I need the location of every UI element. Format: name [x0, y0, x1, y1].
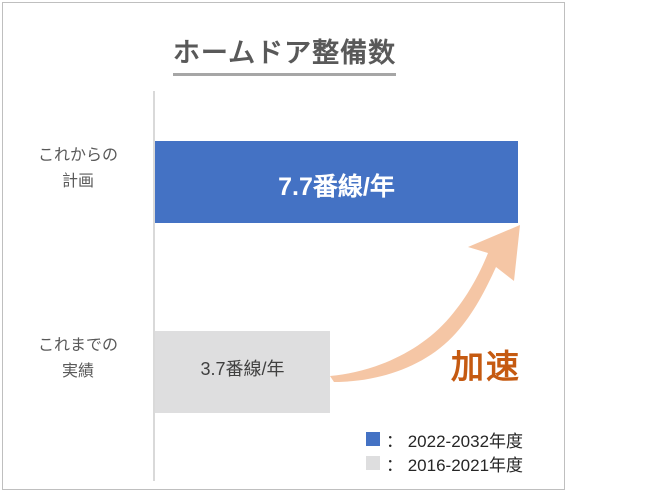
page-title: ホームドア整備数 — [3, 31, 566, 76]
bar-plan-value-label: 7.7番線/年 — [155, 167, 518, 203]
category-label-actual-line2: 実績 — [8, 359, 148, 385]
legend-item-plan[interactable]: ： 2022-2032年度 — [366, 427, 566, 451]
legend-label-plan: ： 2022-2032年度 — [386, 427, 523, 452]
legend-swatch-blue-icon — [366, 432, 380, 446]
chart-title-text: ホームドア整備数 — [173, 31, 396, 76]
legend-swatch-gray-icon — [366, 456, 380, 470]
legend-item-actual[interactable]: ： 2016-2021年度 — [366, 451, 566, 475]
chart-legend: ： 2022-2032年度 ： 2016-2021年度 — [366, 427, 566, 475]
bar-actual-value-label: 3.7番線/年 — [155, 355, 330, 381]
accelerate-annotation: 加速 — [451, 340, 521, 388]
category-label-plan: これからの 計画 — [8, 143, 148, 195]
category-label-plan-line1: これからの — [8, 143, 148, 169]
category-label-plan-line2: 計画 — [8, 169, 148, 195]
category-label-actual-line1: これまでの — [8, 333, 148, 359]
chart-container: ホームドア整備数 これからの 計画 これまでの 実績 7.7番線/年 3.7番線… — [2, 2, 565, 490]
legend-label-actual: ： 2016-2021年度 — [386, 451, 523, 476]
category-label-actual: これまでの 実績 — [8, 333, 148, 385]
